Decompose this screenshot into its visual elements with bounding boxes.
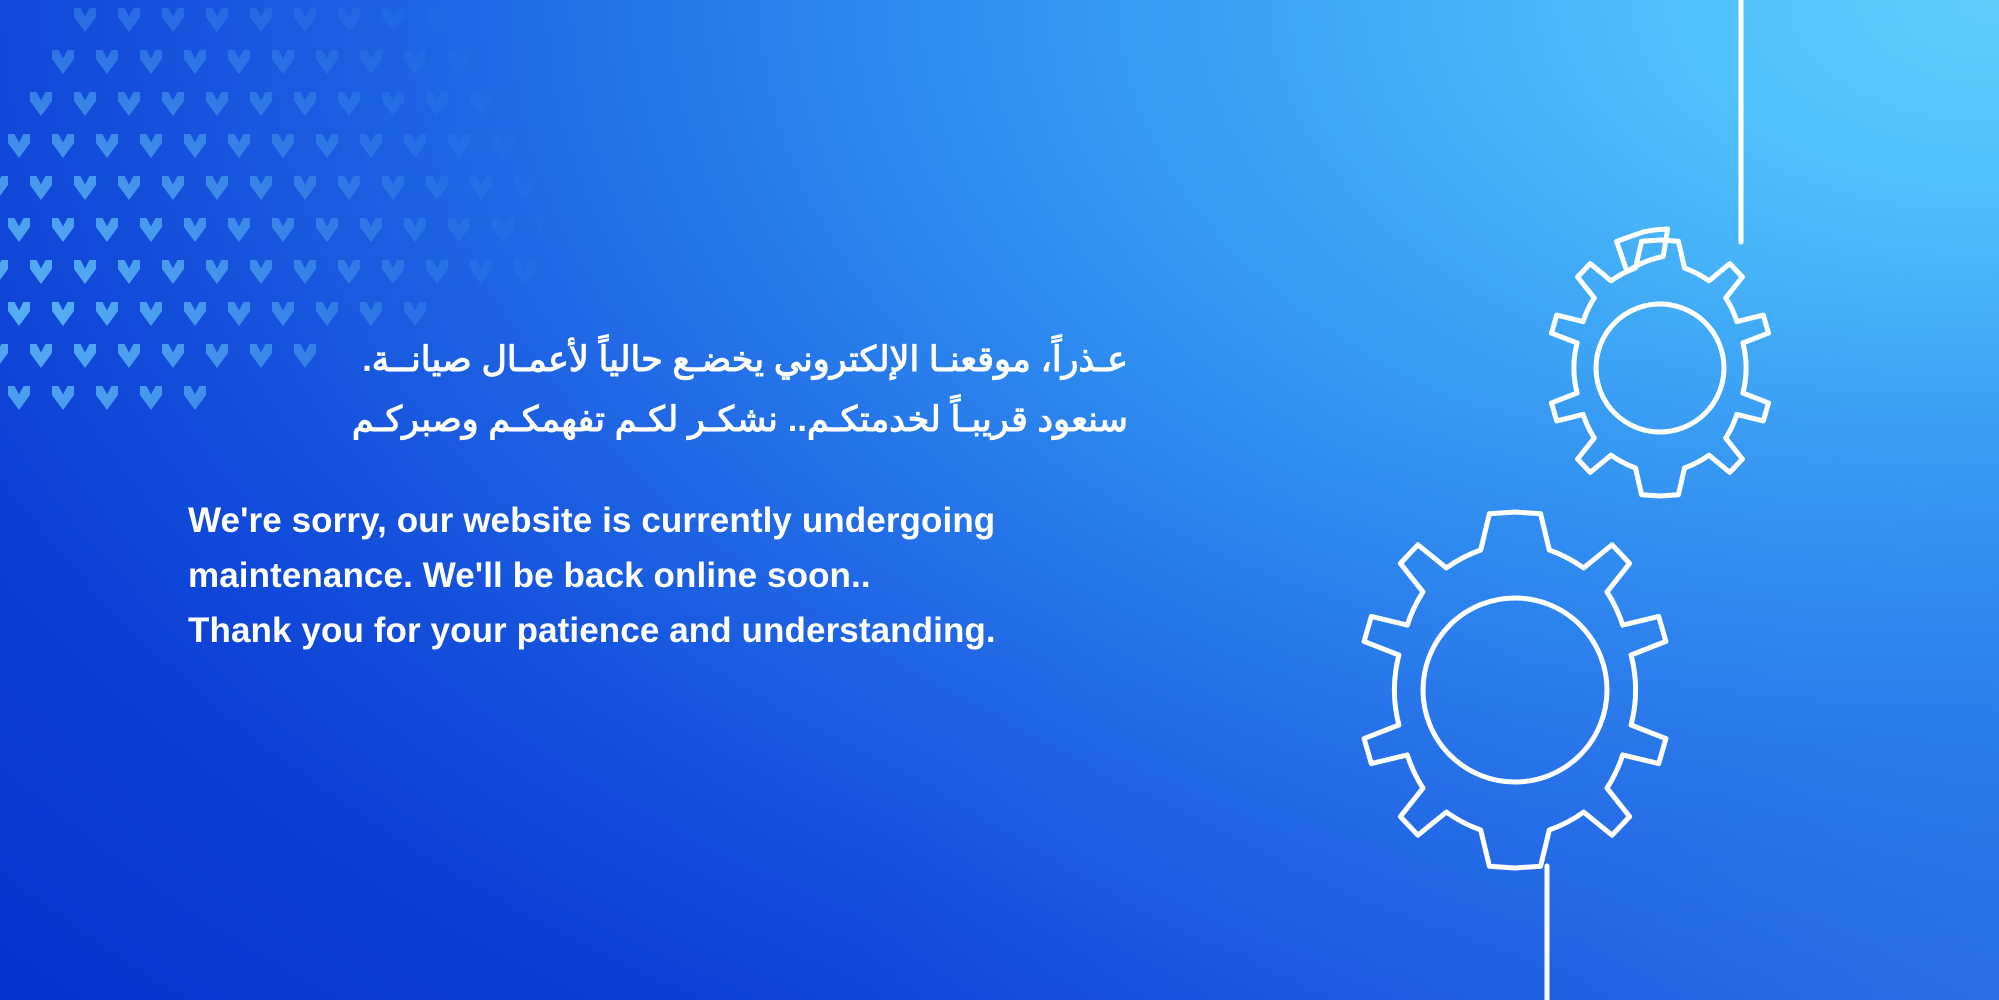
gear-large-inner-circle — [1423, 598, 1607, 782]
arabic-line-1: عـذراً، موقعنـا الإلكتروني يخضـع حالياً … — [188, 330, 1128, 390]
maintenance-message-english: We're sorry, our website is currently un… — [188, 494, 1128, 658]
gear-small-inner-circle — [1596, 304, 1724, 432]
english-line-1: We're sorry, our website is currently un… — [188, 494, 1128, 549]
english-line-2: maintenance. We'll be back online soon.. — [188, 549, 1128, 604]
english-line-3: Thank you for your patience and understa… — [188, 604, 1128, 659]
maintenance-message-arabic: عـذراً، موقعنـا الإلكتروني يخضـع حالياً … — [188, 330, 1128, 450]
arabic-line-2: سنعود قريبـاً لخدمتكـم.. نشكـر لكـم تفهم… — [188, 390, 1128, 450]
maintenance-page: عـذراً، موقعنـا الإلكتروني يخضـع حالياً … — [0, 0, 1999, 1000]
gear-large-icon — [1364, 512, 1666, 868]
gear-small-icon — [1552, 229, 1769, 496]
maintenance-message: عـذراً، موقعنـا الإلكتروني يخضـع حالياً … — [188, 330, 1128, 658]
